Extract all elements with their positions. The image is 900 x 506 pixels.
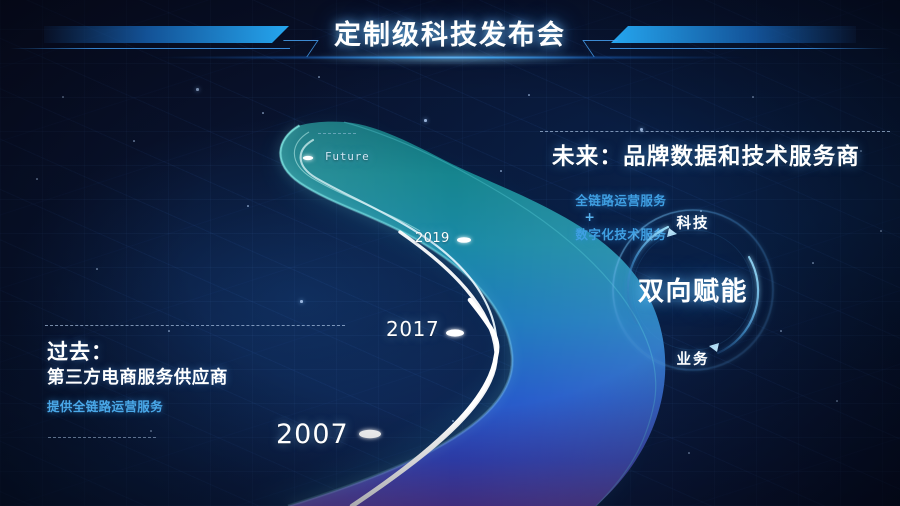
dashed-guide-road-top: [318, 133, 356, 134]
presentation-slide: 定制级科技发布会 过去： 第三方电商服务供应商 提供全链路运营服务 未来：品牌数…: [0, 0, 900, 506]
circle-label-bottom: 业务: [608, 348, 778, 369]
milestone-label-2007: 2007: [276, 419, 349, 450]
circle-label-center: 双向赋能: [608, 271, 778, 308]
dashed-guide-right: [540, 131, 890, 132]
past-caption: 提供全链路运营服务: [47, 396, 228, 415]
milestone-label-2019: 2019: [415, 231, 450, 246]
page-title: 定制级科技发布会: [0, 13, 900, 52]
future-subtitle-plus: +: [575, 209, 604, 224]
milestone-label-2017: 2017: [386, 317, 439, 341]
slide-header: 定制级科技发布会: [0, 0, 900, 68]
dashed-guide-left-lower: [48, 437, 156, 438]
past-heading: 过去：: [47, 340, 228, 366]
header-glow-line: [150, 56, 750, 59]
past-section: 过去： 第三方电商服务供应商 提供全链路运营服务: [47, 340, 228, 415]
past-subheading: 第三方电商服务供应商: [47, 368, 228, 390]
dashed-guide-left-upper: [45, 325, 345, 326]
dual-empowerment-diagram: 科技 双向赋能 业务: [608, 205, 778, 375]
circle-label-top: 科技: [608, 212, 778, 233]
milestone-label-future: Future: [325, 150, 370, 163]
future-heading: 未来：品牌数据和技术服务商: [552, 139, 860, 171]
